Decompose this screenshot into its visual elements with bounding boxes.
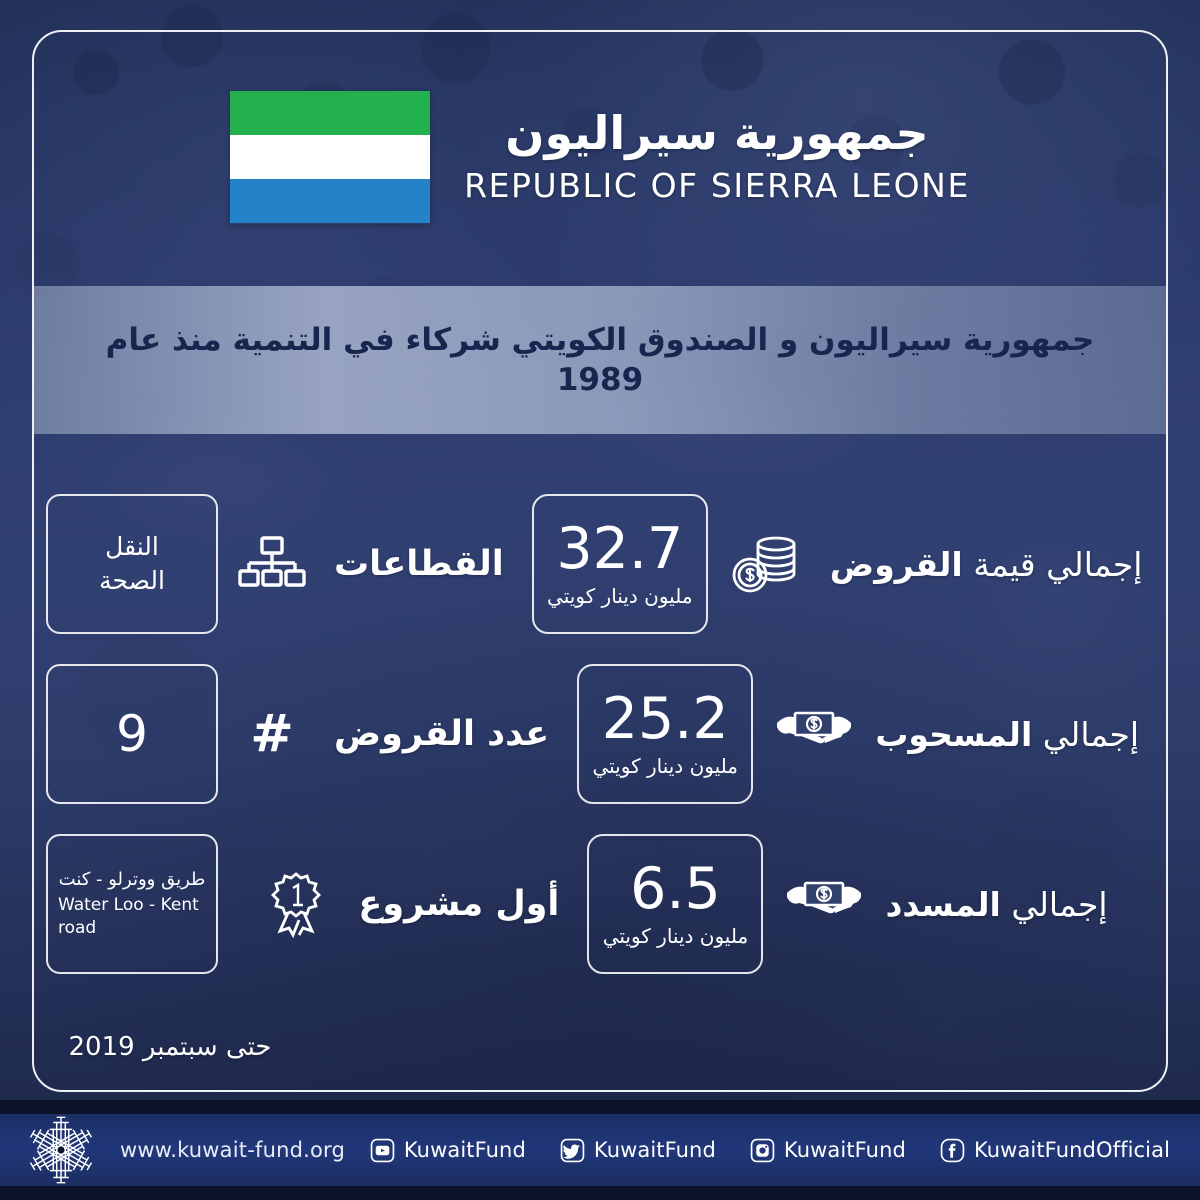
country-name-english: REPUBLIC OF SIERRA LEONE bbox=[464, 165, 970, 208]
hash-glyph: # bbox=[250, 708, 294, 760]
total-loans-label-prefix: إجمالي قيمة bbox=[973, 545, 1142, 584]
youtube-icon bbox=[370, 1138, 395, 1163]
partnership-banner-text: جمهورية سيراليون و الصندوق الكويتي شركاء… bbox=[34, 320, 1166, 401]
twitter-icon bbox=[560, 1138, 585, 1163]
social-handle-instagram: KuwaitFund bbox=[784, 1138, 906, 1162]
total-drawn-label-prefix: إجمالي bbox=[1043, 715, 1139, 754]
partnership-banner: جمهورية سيراليون و الصندوق الكويتي شركاء… bbox=[34, 286, 1166, 434]
social-link-youtube[interactable]: KuwaitFund bbox=[370, 1138, 526, 1163]
drawn-value-unit: مليون دينار كويتي bbox=[592, 754, 738, 778]
total-loans-label-strong: القروض bbox=[830, 545, 963, 584]
social-link-instagram[interactable]: KuwaitFund bbox=[750, 1138, 906, 1163]
sectors-chip: النقل الصحة bbox=[46, 494, 218, 634]
kuwait-fund-logo bbox=[18, 1107, 104, 1193]
country-name-arabic: جمهورية سيراليون bbox=[464, 106, 970, 160]
first-project-chip: طريق ووترلو - كنت Water Loo - Kent road bbox=[46, 834, 218, 974]
social-links: KuwaitFund KuwaitFund bbox=[370, 1138, 1170, 1163]
loan-count-chip: 9 bbox=[46, 664, 218, 804]
stats-grid: النقل الصحة القطاعات 32.7 مليون د bbox=[46, 490, 1154, 978]
org-chart-icon bbox=[236, 528, 308, 600]
total-repaid-label-group: إجمالي المسدد bbox=[763, 871, 1154, 937]
drawn-value: 25.2 bbox=[602, 691, 729, 748]
total-repaid-label-prefix: إجمالي bbox=[1011, 885, 1107, 924]
total-drawn-label-group: إجمالي المسحوب bbox=[753, 701, 1161, 767]
repaid-value: 6.5 bbox=[630, 861, 721, 918]
stat-row: طريق ووترلو - كنت Water Loo - Kent road … bbox=[46, 830, 1154, 978]
loan-count-label: عدد القروض bbox=[334, 714, 549, 754]
total-drawn-label-strong: المسحوب bbox=[875, 715, 1032, 754]
award-ribbon-icon bbox=[260, 868, 332, 940]
total-repaid-label-strong: المسدد bbox=[885, 885, 1000, 924]
flag-stripe-green bbox=[230, 91, 430, 135]
hands-banknote-icon bbox=[775, 701, 853, 767]
sector-line: الصحة bbox=[99, 565, 165, 597]
flag-stripe-blue bbox=[230, 179, 430, 223]
footer-bar: www.kuwait-fund.org KuwaitFund bbox=[0, 1100, 1200, 1200]
repaid-value-unit: مليون دينار كويتي bbox=[603, 924, 749, 948]
stat-row: 9 عدد القروض # 25.2 مليون دينار كويتي إج… bbox=[46, 660, 1154, 808]
loans-value: 32.7 bbox=[556, 521, 683, 578]
social-link-facebook[interactable]: KuwaitFundOfficial bbox=[940, 1138, 1170, 1163]
website-url[interactable]: www.kuwait-fund.org bbox=[120, 1138, 345, 1162]
facebook-icon bbox=[940, 1138, 965, 1163]
sectors-label-group: القطاعات bbox=[218, 528, 532, 600]
loans-value-box: 32.7 مليون دينار كويتي bbox=[532, 494, 708, 634]
social-handle-facebook: KuwaitFundOfficial bbox=[974, 1138, 1170, 1162]
repaid-value-box: 6.5 مليون دينار كويتي bbox=[587, 834, 763, 974]
sector-line: النقل bbox=[105, 531, 159, 563]
loan-count-label-group: عدد القروض # bbox=[218, 698, 577, 770]
sierra-leone-flag bbox=[230, 91, 430, 224]
as-of-date: حتى سبتمبر 2019 bbox=[0, 1032, 340, 1062]
country-titles: جمهورية سيراليون REPUBLIC OF SIERRA LEON… bbox=[464, 106, 970, 207]
drawn-value-box: 25.2 مليون دينار كويتي bbox=[577, 664, 753, 804]
header: جمهورية سيراليون REPUBLIC OF SIERRA LEON… bbox=[0, 82, 1200, 232]
loan-count-value: 9 bbox=[116, 708, 148, 761]
social-handle-youtube: KuwaitFund bbox=[404, 1138, 526, 1162]
total-repaid-label: إجمالي المسدد bbox=[885, 885, 1107, 924]
total-loans-label-group: إجمالي قيمة القروض bbox=[708, 531, 1165, 597]
hash-icon: # bbox=[236, 698, 308, 770]
coin-stack-icon bbox=[730, 531, 808, 597]
flag-stripe-white bbox=[230, 135, 430, 179]
stat-row: النقل الصحة القطاعات 32.7 مليون د bbox=[46, 490, 1154, 638]
social-handle-twitter: KuwaitFund bbox=[594, 1138, 716, 1162]
first-project-name-english: Water Loo - Kent road bbox=[58, 894, 206, 940]
sectors-label: القطاعات bbox=[334, 544, 504, 584]
hands-banknote-icon bbox=[785, 871, 863, 937]
infographic-poster: جمهورية سيراليون REPUBLIC OF SIERRA LEON… bbox=[0, 0, 1200, 1200]
first-project-label: أول مشروع bbox=[358, 884, 559, 924]
total-loans-label: إجمالي قيمة القروض bbox=[830, 545, 1143, 584]
loans-value-unit: مليون دينار كويتي bbox=[547, 584, 693, 608]
social-link-twitter[interactable]: KuwaitFund bbox=[560, 1138, 716, 1163]
instagram-icon bbox=[750, 1138, 775, 1163]
first-project-name-arabic: طريق ووترلو - كنت bbox=[59, 868, 206, 892]
total-drawn-label: إجمالي المسحوب bbox=[875, 715, 1139, 754]
first-project-label-group: أول مشروع bbox=[218, 868, 587, 940]
